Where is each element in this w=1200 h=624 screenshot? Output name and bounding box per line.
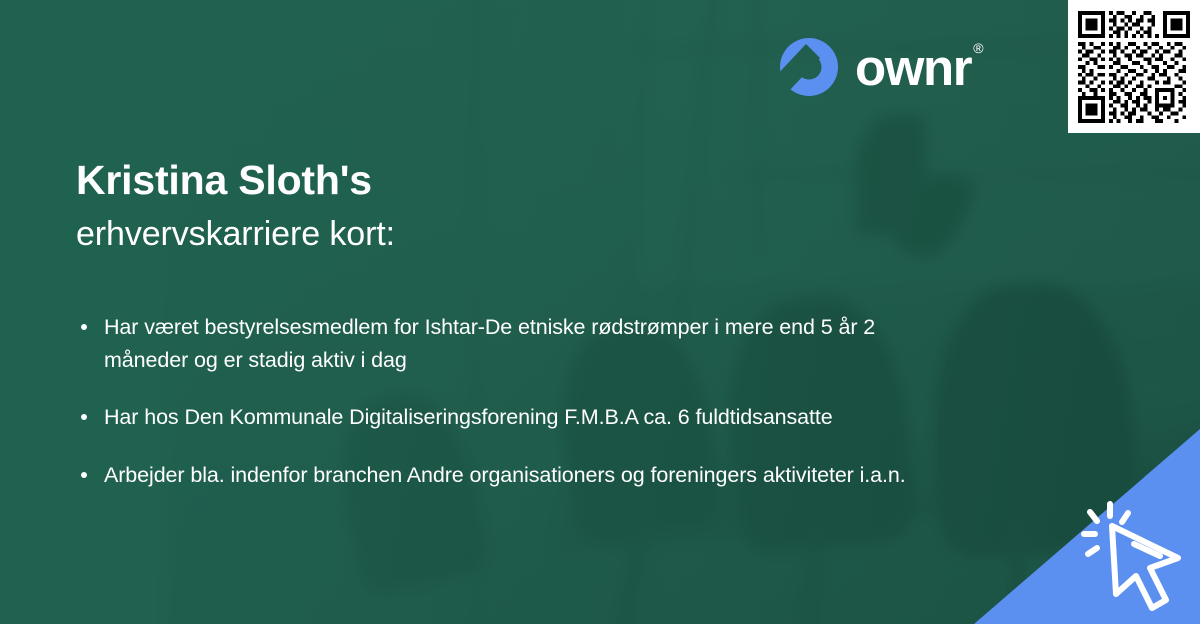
qr-code[interactable] bbox=[1078, 11, 1190, 123]
registered-trademark-icon: ® bbox=[973, 40, 983, 56]
list-item-text: Har været bestyrelsesmedlem for Ishtar-D… bbox=[104, 315, 875, 372]
qr-code-panel[interactable] bbox=[1068, 0, 1200, 133]
career-card: ownr® Kristina Sloth's erhvervskarriere … bbox=[0, 0, 1200, 624]
ownr-wordmark: ownr® bbox=[855, 42, 982, 93]
ownr-wordmark-text: ownr bbox=[855, 39, 971, 96]
page-title: Kristina Sloth's erhvervskarriere kort: bbox=[76, 157, 395, 254]
person-name-heading: Kristina Sloth's bbox=[76, 157, 395, 205]
list-item-text: Arbejder bla. indenfor branchen Andre or… bbox=[104, 463, 906, 487]
bullet-dot-icon bbox=[81, 414, 87, 420]
card-subtitle: erhvervskarriere kort: bbox=[76, 214, 395, 255]
bullet-dot-icon bbox=[81, 472, 87, 478]
list-item-text: Har hos Den Kommunale Digitaliseringsfor… bbox=[104, 405, 833, 429]
ownr-logo[interactable]: ownr® bbox=[780, 37, 982, 97]
ownr-swoosh-circle-icon bbox=[780, 38, 838, 96]
list-item: Arbejder bla. indenfor branchen Andre or… bbox=[78, 459, 958, 492]
bullet-dot-icon bbox=[81, 324, 87, 330]
list-item: Har været bestyrelsesmedlem for Ishtar-D… bbox=[78, 311, 958, 376]
career-facts-list: Har været bestyrelsesmedlem for Ishtar-D… bbox=[78, 311, 958, 492]
list-item: Har hos Den Kommunale Digitaliseringsfor… bbox=[78, 401, 958, 434]
